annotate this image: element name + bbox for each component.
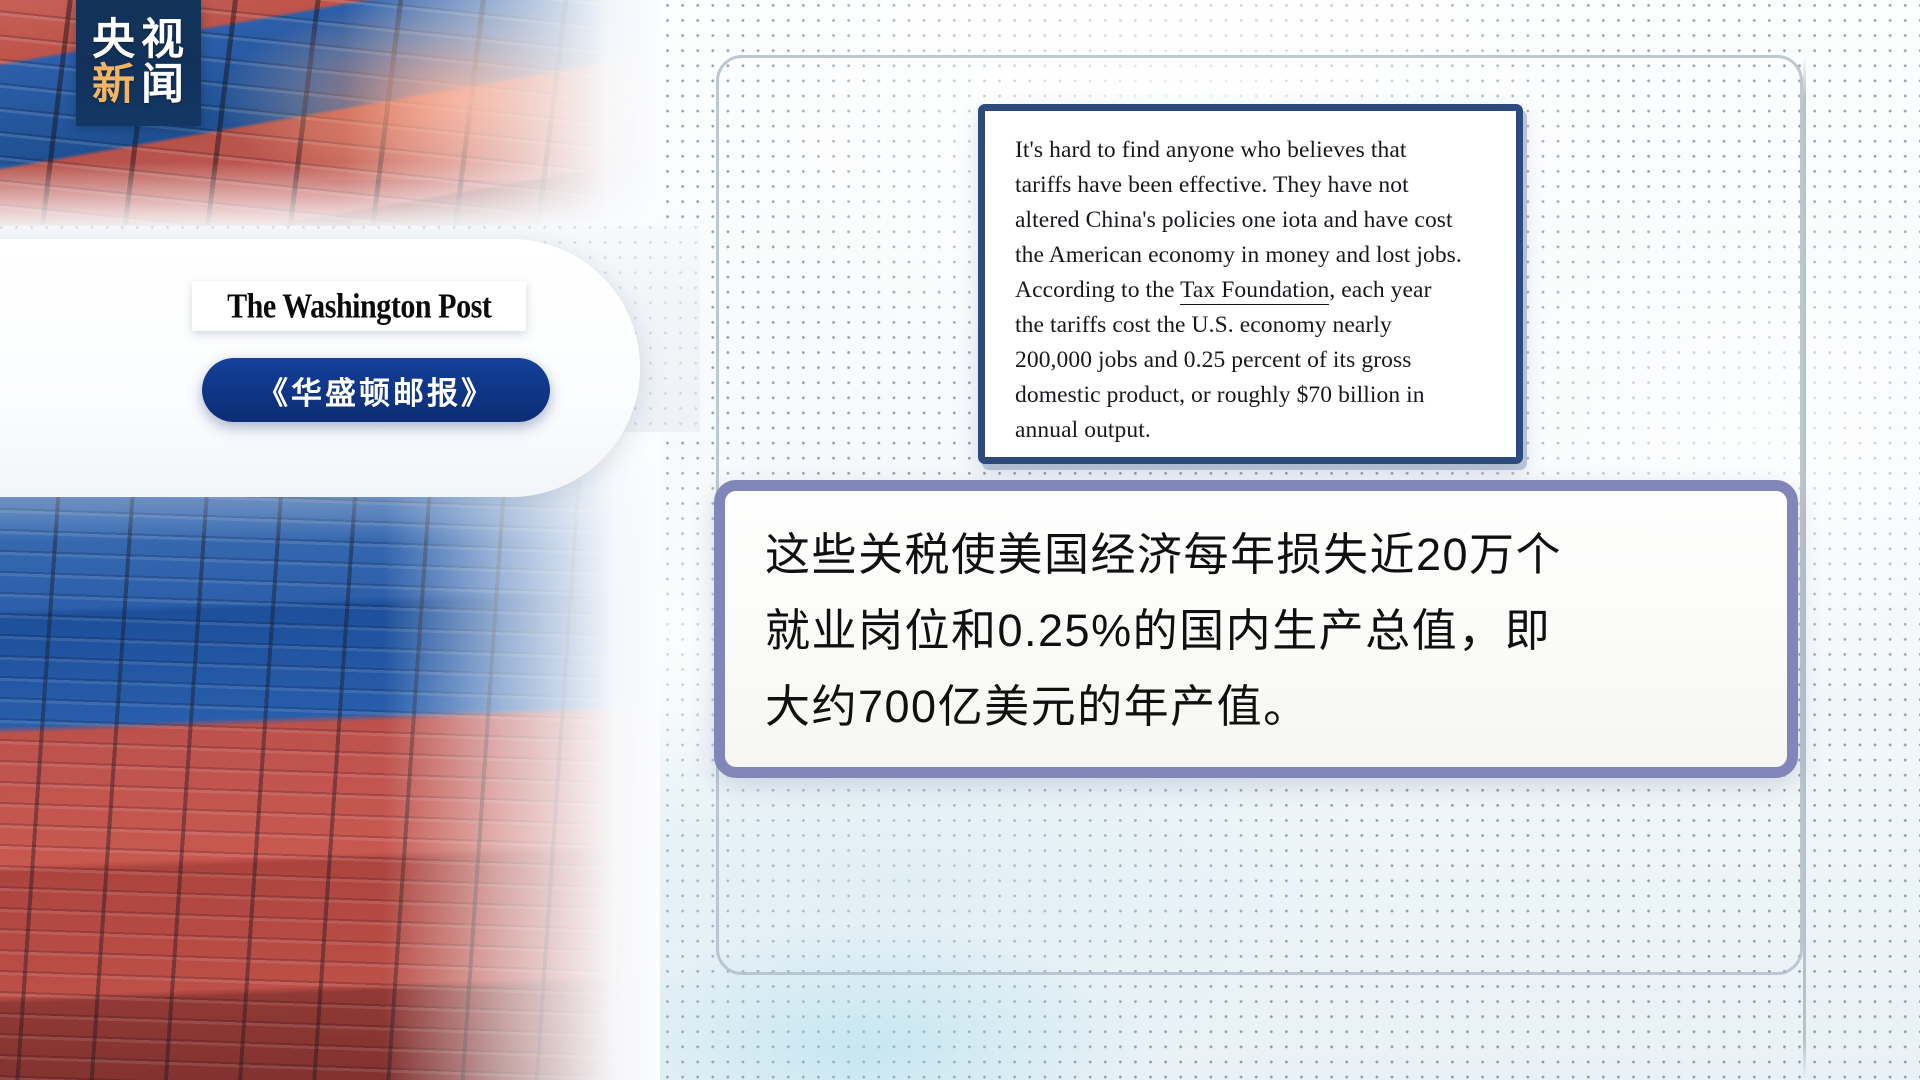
en-line-4: the American economy in money and lost j… — [1015, 242, 1462, 268]
cctv-glyph-shi: 视 — [141, 19, 185, 62]
chinese-translation-card: 这些关税使美国经济每年损失近20万个 就业岗位和0.25%的国内生产总值，即 大… — [714, 480, 1798, 778]
masthead-text: The Washington Post — [227, 285, 491, 326]
cctv-glyph-xin: 新 — [92, 64, 136, 107]
screenshot-canvas: 央 视 新 闻 The Washington Post 《华盛顿邮报》 It's… — [0, 0, 1920, 1080]
en-line-5-post: , each year — [1329, 277, 1431, 303]
cctv-glyph-yang: 央 — [92, 19, 136, 62]
cctv-logo-line-1: 央 视 — [92, 19, 185, 62]
english-quote-text: It's hard to find anyone who believes th… — [1015, 133, 1490, 448]
zh-line-3: 大约700亿美元的年产值。 — [765, 681, 1310, 732]
en-line-7: 200,000 jobs and 0.25 percent of its gro… — [1015, 347, 1411, 373]
cctv-news-logo: 央 视 新 闻 — [76, 0, 201, 126]
container-photo — [0, 0, 660, 1080]
container-photo-bottom — [0, 424, 660, 1080]
chinese-translation-text: 这些关税使美国经济每年损失近20万个 就业岗位和0.25%的国内生产总值，即 大… — [765, 517, 1753, 745]
background-cyan-glow — [560, 780, 1320, 1080]
source-name-zh: 《华盛顿邮报》 — [257, 368, 495, 413]
zh-line-1: 这些关税使美国经济每年损失近20万个 — [765, 529, 1562, 580]
en-line-5-pre: According to the — [1015, 277, 1180, 303]
en-line-9: annual output. — [1015, 417, 1151, 443]
tax-foundation-link[interactable]: Tax Foundation — [1180, 277, 1329, 305]
source-name-pill: 《华盛顿邮报》 — [202, 358, 550, 422]
cctv-glyph-wen: 闻 — [141, 64, 185, 107]
english-quote-card: It's hard to find anyone who believes th… — [978, 104, 1523, 464]
en-line-6: the tariffs cost the U.S. economy nearly — [1015, 312, 1392, 338]
en-line-3: altered China's policies one iota and ha… — [1015, 207, 1453, 233]
en-line-2: tariffs have been effective. They have n… — [1015, 172, 1409, 198]
photo-bottom-fade — [0, 424, 660, 1080]
washington-post-masthead: The Washington Post — [192, 281, 526, 331]
en-line-1: It's hard to find anyone who believes th… — [1015, 137, 1407, 163]
cctv-logo-line-2: 新 闻 — [92, 64, 185, 107]
vertical-hairline — [1803, 56, 1806, 1080]
en-line-8: domestic product, or roughly $70 billion… — [1015, 382, 1425, 408]
zh-line-2: 就业岗位和0.25%的国内生产总值，即 — [765, 605, 1551, 656]
